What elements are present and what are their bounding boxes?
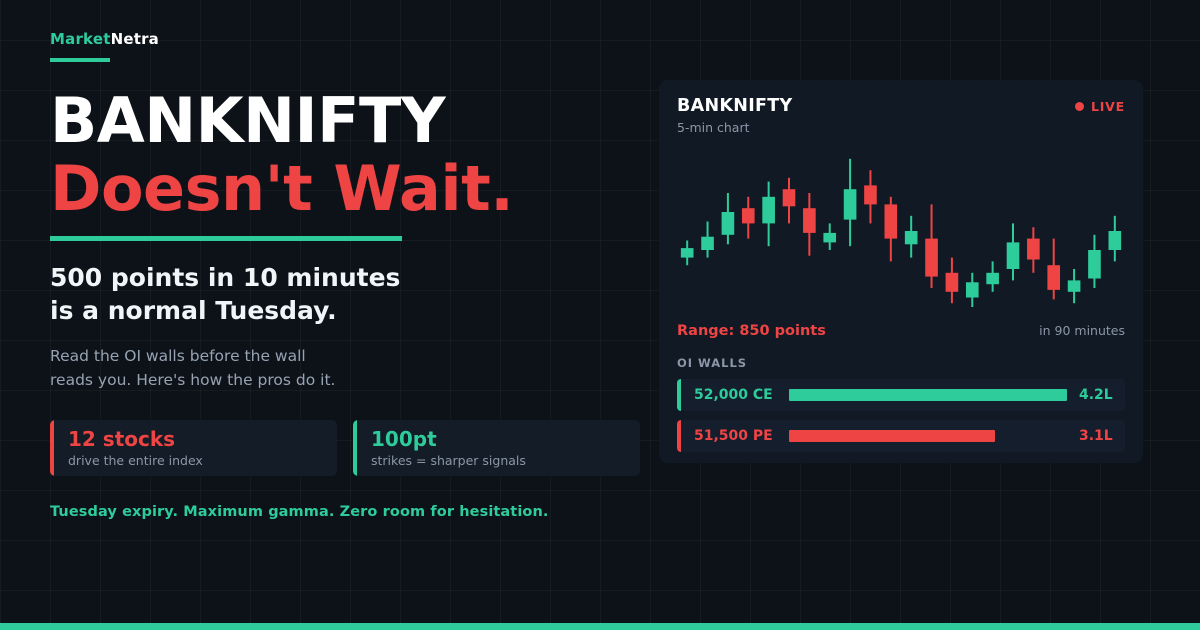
stat-card-group: 12 stocks drive the entire index 100pt s… bbox=[50, 420, 640, 476]
headline-underline bbox=[50, 236, 402, 241]
candlestick-chart bbox=[677, 151, 1125, 311]
live-status-badge: LIVE bbox=[1075, 99, 1125, 114]
body-copy-line-2: reads you. Here's how the pros do it. bbox=[50, 368, 640, 392]
hero-tagline: Tuesday expiry. Maximum gamma. Zero room… bbox=[50, 504, 640, 520]
hero-column: MarketNetra BANKNIFTY Doesn't Wait. 500 … bbox=[50, 32, 640, 520]
stat-value: 100pt bbox=[371, 428, 526, 451]
chart-panel-titles: BANKNIFTY 5-min chart bbox=[677, 96, 793, 135]
stat-card-text: 12 stocks drive the entire index bbox=[54, 428, 203, 468]
brand-logo-primary: Market bbox=[50, 30, 111, 48]
stat-label: drive the entire index bbox=[68, 453, 203, 468]
range-annotation: Range: 850 points bbox=[677, 323, 826, 339]
oi-wall-row-pe[interactable]: 51,500 PE 3.1L bbox=[677, 420, 1125, 452]
oi-bar-track bbox=[789, 389, 1067, 401]
chart-panel-subtitle: 5-min chart bbox=[677, 120, 793, 135]
oi-wall-row-ce[interactable]: 52,000 CE 4.2L bbox=[677, 379, 1125, 411]
brand-logo-underline bbox=[50, 58, 110, 62]
subheadline-line-1: 500 points in 10 minutes bbox=[50, 261, 640, 294]
hero-body-copy: Read the OI walls before the wall reads … bbox=[50, 344, 640, 392]
headline-line-2: Doesn't Wait. bbox=[50, 158, 640, 220]
stat-value: 12 stocks bbox=[68, 428, 203, 451]
body-copy-line-1: Read the OI walls before the wall bbox=[50, 344, 640, 368]
brand-logo-secondary: Netra bbox=[111, 30, 159, 48]
hero-headline: BANKNIFTY Doesn't Wait. bbox=[50, 90, 640, 220]
stat-card-strikes[interactable]: 100pt strikes = sharper signals bbox=[353, 420, 640, 476]
headline-line-1: BANKNIFTY bbox=[50, 90, 640, 152]
bottom-accent-bar bbox=[0, 623, 1200, 630]
chart-panel-header: BANKNIFTY 5-min chart LIVE bbox=[677, 96, 1125, 135]
stat-card-text: 100pt strikes = sharper signals bbox=[357, 428, 526, 468]
chart-footer: Range: 850 points in 90 minutes bbox=[677, 323, 1125, 339]
brand-logo[interactable]: MarketNetra bbox=[50, 32, 640, 47]
oi-strike-label: 51,500 PE bbox=[681, 428, 789, 444]
oi-walls-section-title: OI WALLS bbox=[677, 356, 1125, 370]
stat-card-stocks[interactable]: 12 stocks drive the entire index bbox=[50, 420, 337, 476]
oi-bar-fill bbox=[789, 389, 1067, 401]
chart-panel-title: BANKNIFTY bbox=[677, 96, 793, 116]
live-dot-icon bbox=[1075, 102, 1084, 111]
hero-subheadline: 500 points in 10 minutes is a normal Tue… bbox=[50, 261, 640, 327]
subheadline-line-2: is a normal Tuesday. bbox=[50, 294, 640, 327]
oi-strike-label: 52,000 CE bbox=[681, 387, 789, 403]
poster-canvas: MarketNetra BANKNIFTY Doesn't Wait. 500 … bbox=[0, 0, 1200, 630]
chart-panel: BANKNIFTY 5-min chart LIVE Range: 850 po… bbox=[659, 80, 1143, 463]
live-label: LIVE bbox=[1091, 99, 1125, 114]
oi-bar-fill bbox=[789, 430, 995, 442]
oi-value-label: 3.1L bbox=[1067, 428, 1125, 444]
oi-bar-track bbox=[789, 430, 1067, 442]
oi-value-label: 4.2L bbox=[1067, 387, 1125, 403]
stat-label: strikes = sharper signals bbox=[371, 453, 526, 468]
candlestick-series bbox=[677, 151, 1125, 311]
duration-annotation: in 90 minutes bbox=[1039, 323, 1125, 338]
